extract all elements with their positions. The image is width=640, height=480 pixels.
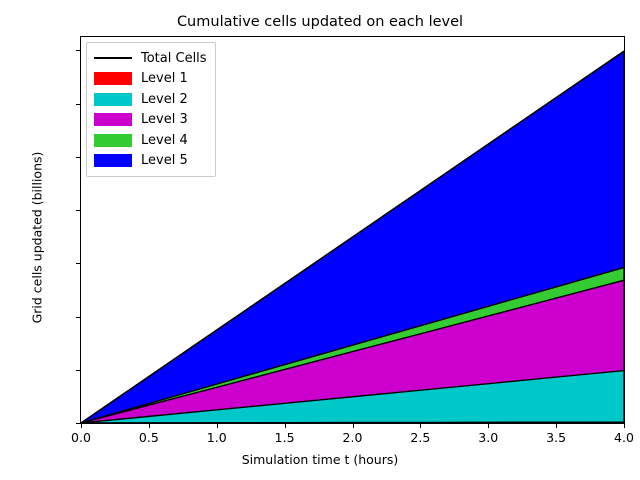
chart-legend[interactable]: Total CellsLevel 1Level 2Level 3Level 4L… bbox=[86, 42, 216, 177]
x-tick-label: 3.5 bbox=[546, 430, 566, 445]
legend-item-level-2[interactable]: Level 2 bbox=[94, 89, 207, 110]
legend-item-level-5[interactable]: Level 5 bbox=[94, 151, 207, 172]
x-tick-label: 3.0 bbox=[478, 430, 498, 445]
x-tick-mark bbox=[81, 424, 82, 428]
x-tick-label: 0.0 bbox=[71, 430, 91, 445]
legend-item-level-1[interactable]: Level 1 bbox=[94, 69, 207, 90]
legend-item-level-3[interactable]: Level 3 bbox=[94, 110, 207, 131]
area-band-level-1 bbox=[81, 422, 624, 423]
legend-item-level-4[interactable]: Level 4 bbox=[94, 130, 207, 151]
legend-color-patch bbox=[94, 93, 132, 106]
legend-swatch-level-3 bbox=[94, 113, 132, 126]
legend-label: Level 5 bbox=[141, 154, 188, 167]
x-axis-label: Simulation time t (hours) bbox=[0, 452, 640, 467]
x-tick-mark bbox=[149, 424, 150, 428]
x-tick-mark bbox=[420, 424, 421, 428]
x-tick-label: 1.5 bbox=[275, 430, 295, 445]
legend-swatch-level-2 bbox=[94, 93, 132, 106]
legend-swatch-level-4 bbox=[94, 134, 132, 147]
x-tick-mark bbox=[556, 424, 557, 428]
x-tick-mark bbox=[285, 424, 286, 428]
x-tick-mark bbox=[217, 424, 218, 428]
legend-label: Level 1 bbox=[141, 72, 188, 85]
legend-label: Total Cells bbox=[141, 52, 207, 65]
legend-label: Level 2 bbox=[141, 93, 188, 106]
x-tick-mark bbox=[624, 424, 625, 428]
legend-line-marker bbox=[94, 57, 132, 59]
legend-color-patch bbox=[94, 134, 132, 147]
legend-swatch-level-1 bbox=[94, 72, 132, 85]
legend-label: Level 4 bbox=[141, 134, 188, 147]
y-axis-label: Grid cells updated (billions) bbox=[30, 43, 45, 433]
x-tick-label: 2.0 bbox=[343, 430, 363, 445]
legend-label: Level 3 bbox=[141, 113, 188, 126]
legend-color-patch bbox=[94, 72, 132, 85]
x-tick-mark bbox=[353, 424, 354, 428]
x-tick-mark bbox=[488, 424, 489, 428]
legend-color-patch bbox=[94, 154, 132, 167]
figure-canvas: Cumulative cells updated on each level G… bbox=[0, 0, 640, 480]
legend-color-patch bbox=[94, 113, 132, 126]
x-tick-label: 4.0 bbox=[614, 430, 634, 445]
x-tick-label: 2.5 bbox=[410, 430, 430, 445]
x-tick-label: 0.5 bbox=[139, 430, 159, 445]
legend-swatch-level-5 bbox=[94, 154, 132, 167]
x-tick-label: 1.0 bbox=[207, 430, 227, 445]
legend-item-total-cells[interactable]: Total Cells bbox=[94, 48, 207, 69]
chart-title: Cumulative cells updated on each level bbox=[0, 14, 640, 30]
legend-swatch-total-cells bbox=[94, 52, 132, 65]
